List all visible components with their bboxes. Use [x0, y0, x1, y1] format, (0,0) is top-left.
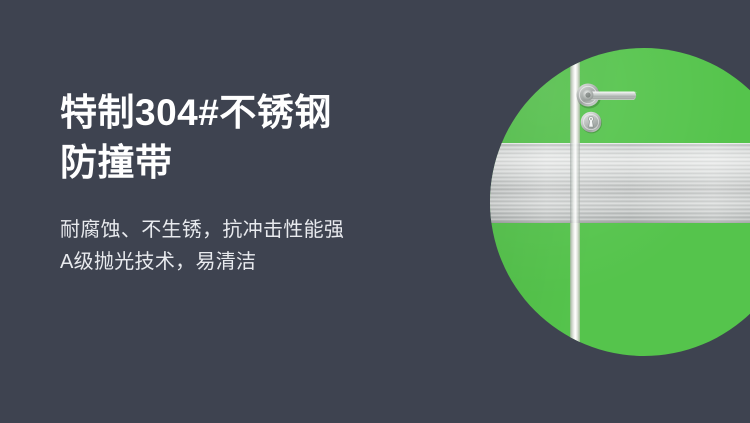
steel-sheen-overlay	[490, 143, 750, 223]
lock-escutcheon	[579, 110, 603, 134]
product-feature-banner: 特制304#不锈钢 防撞带 耐腐蚀、不生锈，抗冲击性能强 A级抛光技术，易清洁	[0, 0, 750, 423]
text-block: 特制304#不锈钢 防撞带 耐腐蚀、不生锈，抗冲击性能强 A级抛光技术，易清洁	[60, 88, 460, 278]
door-jamb-over-strip	[570, 143, 580, 223]
stainless-anti-collision-strip	[490, 143, 750, 223]
keyhole-icon	[579, 110, 603, 134]
door-lever-handle	[576, 80, 646, 110]
subhead-line-2: A级抛光技术，易清洁	[60, 246, 460, 278]
headline-line-1: 特制304#不锈钢	[60, 88, 460, 138]
lever-handle-icon	[576, 80, 646, 110]
headline-line-2: 防撞带	[60, 138, 460, 188]
product-photo-circle	[490, 48, 750, 356]
subhead-line-1: 耐腐蚀、不生锈，抗冲击性能强	[60, 214, 460, 246]
